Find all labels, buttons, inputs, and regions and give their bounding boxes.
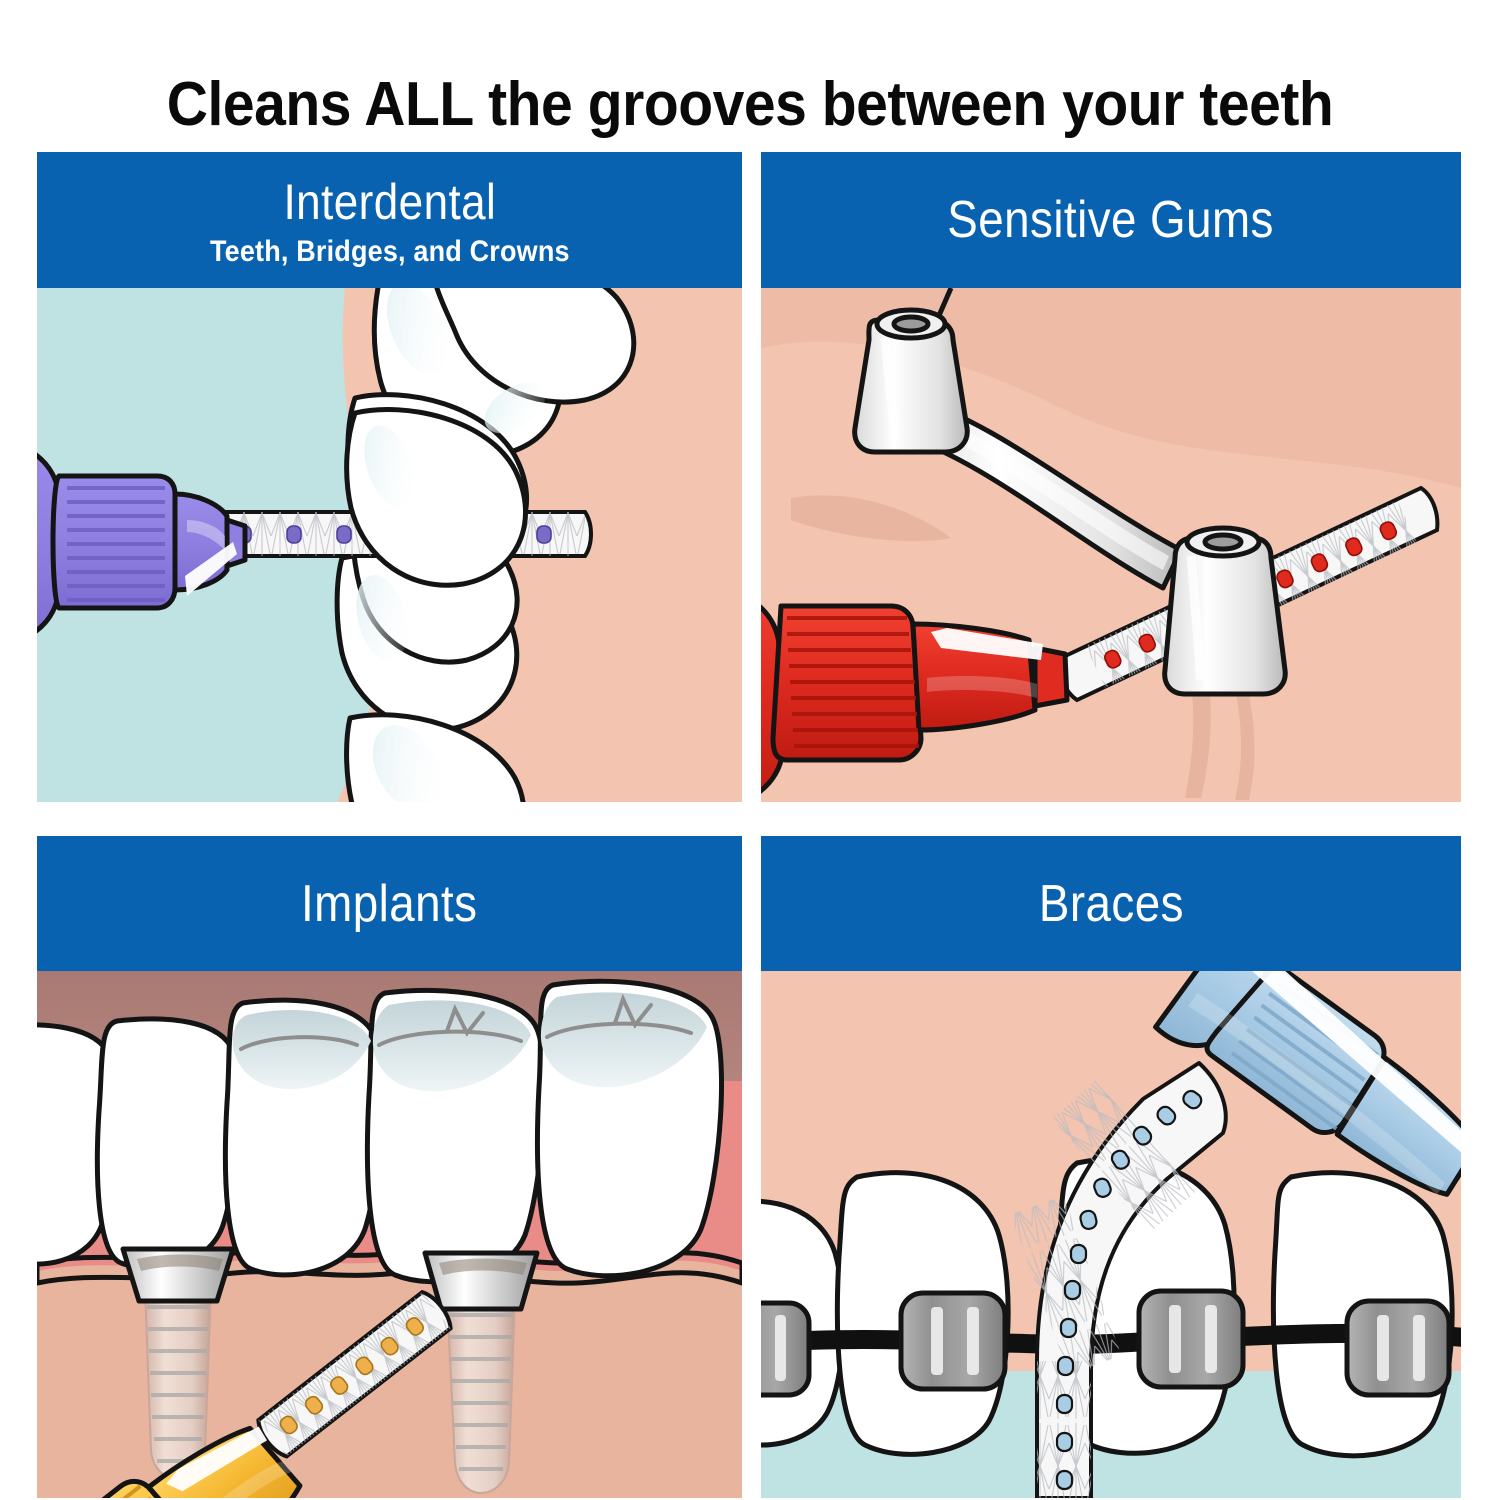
panel-header-interdental: Interdental Teeth, Bridges, and Crowns [37,152,742,288]
implant-screw-right [447,1297,515,1493]
panel-art-implants [37,971,742,1498]
infographic-page: Cleans ALL the grooves between your teet… [0,0,1500,1500]
page-title: Cleans ALL the grooves between your teet… [60,72,1440,137]
abutment-post-left [855,310,968,452]
bracket [1139,1291,1243,1387]
bracket [761,1303,809,1395]
panel-title-interdental: Interdental [283,177,496,227]
bracket [1347,1301,1449,1395]
panel-header-implants: Implants [37,836,742,971]
panel-header-sensitive-gums: Sensitive Gums [761,152,1461,288]
panel-art-braces [761,971,1461,1498]
interdental-illustration [37,288,742,802]
braces-illustration [761,971,1461,1498]
abutment-post-right [1165,528,1286,694]
panel-implants: Implants [37,836,742,1498]
panel-subtitle-interdental: Teeth, Bridges, and Crowns [210,235,570,269]
panel-header-braces: Braces [761,836,1461,971]
panel-title-braces: Braces [1038,878,1183,930]
panel-art-interdental [37,288,742,802]
panel-title-sensitive-gums: Sensitive Gums [948,194,1275,246]
panel-interdental: Interdental Teeth, Bridges, and Crowns [37,152,742,802]
panel-braces: Braces [761,836,1461,1498]
panel-sensitive-gums: Sensitive Gums [761,152,1461,802]
implants-illustration [37,971,742,1498]
panel-art-sensitive-gums [761,288,1461,802]
panel-title-implants: Implants [301,878,477,930]
bracket [901,1293,1005,1389]
sensitive-gums-illustration [761,288,1461,802]
